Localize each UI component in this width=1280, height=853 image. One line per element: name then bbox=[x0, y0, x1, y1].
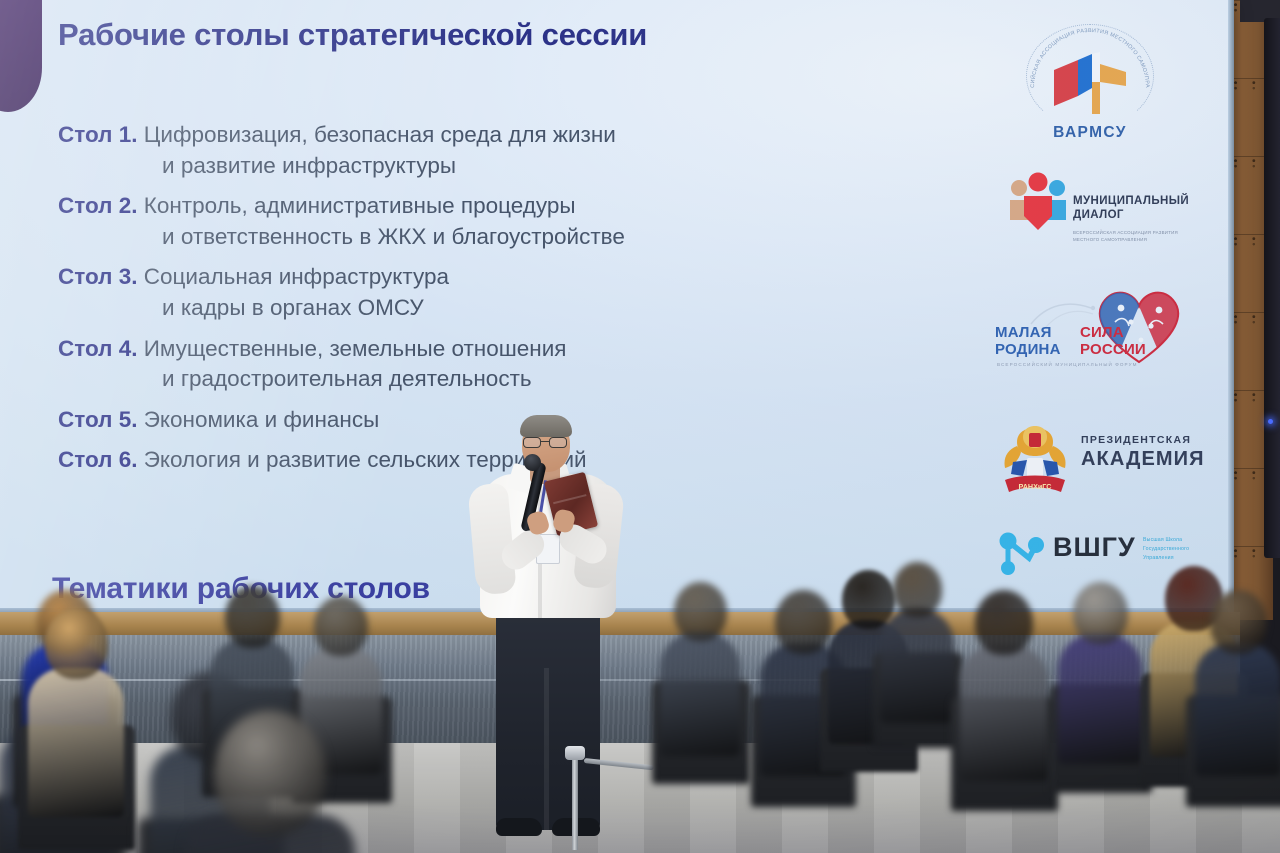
rodina-left-line2: РОДИНА bbox=[995, 341, 1061, 358]
audience-person-body bbox=[28, 668, 124, 817]
logo-malaya-rodina: МАЛАЯ РОДИНА СИЛА РОССИИ ВСЕРОССИЙСКИЙ М… bbox=[985, 292, 1195, 382]
table-topic-line2: и градостроительная деятельность bbox=[58, 364, 858, 395]
audience-person-head bbox=[893, 562, 942, 617]
municipal-dialog-line1: МУНИЦИПАЛЬНЫЙ bbox=[1073, 194, 1189, 208]
table-topic-line1: Имущественные, земельные отношения bbox=[144, 336, 567, 361]
working-tables-list: Стол 1. Цифровизация, безопасная среда д… bbox=[58, 120, 858, 486]
table-label: Стол 5. bbox=[58, 407, 137, 432]
audience-person-head bbox=[1210, 590, 1267, 654]
speaker-hair bbox=[520, 415, 572, 437]
page-title: Рабочие столы стратегической сессии bbox=[58, 16, 708, 53]
list-item: Стол 1. Цифровизация, безопасная среда д… bbox=[58, 120, 858, 181]
audience-person-head bbox=[214, 710, 326, 835]
table-topic-line2: и ответственность в ЖКХ и благоустройств… bbox=[58, 222, 858, 253]
table-topic-line2: и развитие инфраструктуры bbox=[58, 151, 858, 182]
academy-wordmark-line2: АКАДЕМИЯ bbox=[1081, 448, 1205, 471]
academy-wordmark-line1: ПРЕЗИДЕНТСКАЯ bbox=[1081, 434, 1191, 446]
audience-person-body bbox=[1058, 634, 1142, 764]
municipal-dialog-wordmark: МУНИЦИПАЛЬНЫЙ ДИАЛОГ bbox=[1073, 194, 1189, 223]
rodina-right-line1: СИЛА bbox=[1080, 324, 1146, 341]
table-label: Стол 4. bbox=[58, 336, 137, 361]
table-topic-line2: и кадры в органах ОМСУ bbox=[58, 293, 858, 324]
academy-ribbon-label: РАНХиГС bbox=[1019, 482, 1052, 491]
audience-person-head bbox=[1073, 582, 1128, 644]
three-people-speech-bubble-icon bbox=[1007, 172, 1071, 234]
list-item: Стол 6. Экология и развитие сельских тер… bbox=[58, 445, 858, 476]
wall-black-trim bbox=[1264, 18, 1280, 558]
audience-person bbox=[960, 590, 1048, 810]
municipal-dialog-subtitle: ВСЕРОССИЙСКАЯ АССОЦИАЦИЯ РАЗВИТИЯ МЕСТНО… bbox=[1073, 230, 1191, 243]
table-label: Стол 1. bbox=[58, 122, 137, 147]
municipal-dialog-line2: ДИАЛОГ bbox=[1073, 208, 1189, 222]
table-topic-line1: Цифровизация, безопасная среда для жизни bbox=[144, 122, 616, 147]
audience-person-head bbox=[314, 596, 368, 656]
table-topic-line1: Контроль, административные процедуры bbox=[144, 193, 576, 218]
table-label: Стол 2. bbox=[58, 193, 137, 218]
rodina-left-line1: МАЛАЯ bbox=[995, 324, 1061, 341]
audience-person-head bbox=[975, 590, 1033, 655]
table-topic-line1: Социальная инфраструктура bbox=[144, 264, 449, 289]
audience-person-body bbox=[660, 632, 740, 756]
audience-person bbox=[880, 562, 954, 747]
rodina-right-line2: РОССИИ bbox=[1080, 341, 1146, 358]
table-label: Стол 6. bbox=[58, 447, 137, 472]
blue-indicator-led-icon bbox=[1268, 419, 1273, 424]
screen-right-rim bbox=[1228, 0, 1234, 614]
logo-varmsu: ВСЕРОССИЙСКАЯ АССОЦИАЦИЯ РАЗВИТИЯ МЕСТНО… bbox=[1020, 24, 1160, 154]
audience-person-head bbox=[674, 582, 727, 641]
audience-person-head bbox=[225, 586, 280, 648]
vshgu-subtitle-line2: Государственного bbox=[1143, 545, 1205, 554]
audience-person bbox=[1058, 582, 1142, 792]
varmsu-leaf-emblem-icon bbox=[1048, 52, 1132, 114]
vshgu-wordmark: ВШГУ bbox=[1053, 532, 1136, 563]
list-item: Стол 5. Экономика и финансы bbox=[58, 405, 858, 436]
vshgu-subtitle-line1: Высшая Школа bbox=[1143, 536, 1205, 545]
table-label: Стол 3. bbox=[58, 264, 137, 289]
audience-person bbox=[660, 582, 740, 782]
table-topic-line1: Экономика и финансы bbox=[144, 407, 380, 432]
screenshot-root: Рабочие столы стратегической сессии Стол… bbox=[0, 0, 1280, 853]
logo-municipal-dialog: МУНИЦИПАЛЬНЫЙ ДИАЛОГ ВСЕРОССИЙСКАЯ АССОЦ… bbox=[1003, 172, 1193, 272]
audience-person bbox=[185, 710, 355, 853]
glasses-icon bbox=[523, 437, 569, 448]
audience-person-body bbox=[1195, 643, 1280, 776]
vshgu-subtitle: Высшая Школа Государственного Управления bbox=[1143, 536, 1205, 563]
audience-person-body bbox=[880, 608, 954, 723]
varmsu-wordmark: ВАРМСУ bbox=[1020, 124, 1160, 142]
audience-person-head bbox=[45, 608, 108, 679]
audience-person bbox=[1195, 590, 1280, 805]
slide-decor-blob bbox=[0, 0, 42, 112]
eagle-crest-icon: РАНХиГС bbox=[997, 422, 1073, 496]
list-item: Стол 2. Контроль, административные проце… bbox=[58, 191, 858, 252]
audience-person-body bbox=[960, 645, 1048, 781]
audience-person bbox=[28, 608, 124, 848]
rodina-wordmark-right: СИЛА РОССИИ bbox=[1080, 324, 1146, 359]
audience-person-head bbox=[775, 590, 832, 654]
logo-presidential-academy: РАНХиГС ПРЕЗИДЕНТСКАЯ АКАДЕМИЯ bbox=[995, 422, 1195, 500]
rodina-subtitle: ВСЕРОССИЙСКИЙ МУНИЦИПАЛЬНЫЙ ФОРУМ bbox=[997, 362, 1187, 367]
rodina-wordmark-left: МАЛАЯ РОДИНА bbox=[995, 324, 1061, 359]
list-item: Стол 4. Имущественные, земельные отношен… bbox=[58, 334, 858, 395]
list-item: Стол 3. Социальная инфраструктура и кадр… bbox=[58, 262, 858, 323]
audience bbox=[0, 560, 1280, 853]
